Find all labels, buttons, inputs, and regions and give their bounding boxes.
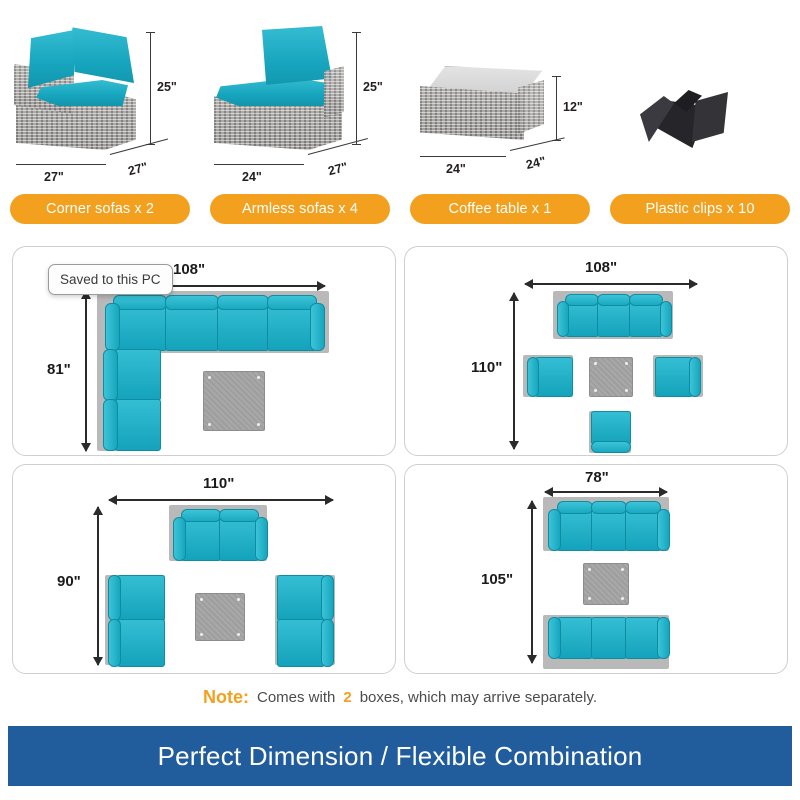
layout-1-width-label: 108" [173, 261, 205, 278]
armless-sofa-width-left-label: 24" [242, 170, 262, 184]
product-pill-plastic-clips[interactable]: Plastic clips x 10 [610, 194, 790, 224]
coffee-table-width-right-label: 24" [525, 154, 547, 172]
plastic-clips-illustration [600, 4, 800, 194]
armless-sofa-illustration: 25" 24" 27" [200, 4, 400, 194]
corner-sofa-width-left-label: 27" [44, 170, 64, 184]
layout-1-depth-label: 81" [47, 361, 71, 378]
layout-4-depth-label: 105" [481, 571, 513, 588]
layout-panel-two-facing-sofas[interactable]: 78" 105" [404, 464, 788, 674]
layout-panel-sofa-two-chairs[interactable]: 108" 110" [404, 246, 788, 456]
product-coffee-table: 12" 24" 24" Coffee table x 1 [400, 0, 600, 238]
layout-2-depth-label: 110" [471, 359, 502, 376]
corner-sofa-width-right-label: 27" [127, 160, 150, 179]
product-strip: 25" 27" 27" Corner sofas x 2 25" 24" 27"… [0, 0, 800, 238]
footer-banner-text: Perfect Dimension / Flexible Combination [158, 741, 643, 772]
product-pill-armless-sofa[interactable]: Armless sofas x 4 [210, 194, 390, 224]
armless-sofa-width-right-label: 27" [327, 160, 350, 179]
toast-text: Saved to this PC [60, 272, 161, 287]
product-armless-sofa: 25" 24" 27" Armless sofas x 4 [200, 0, 400, 238]
footer-banner: Perfect Dimension / Flexible Combination [8, 726, 792, 786]
note-after: boxes, which may arrive separately. [360, 689, 597, 706]
product-pill-coffee-table[interactable]: Coffee table x 1 [410, 194, 590, 224]
layout-2-width-label: 108" [585, 259, 617, 276]
layout-3-width-label: 110" [203, 475, 234, 492]
product-corner-sofa: 25" 27" 27" Corner sofas x 2 [0, 0, 200, 238]
note-row: Note: Comes with 2 boxes, which may arri… [0, 678, 800, 716]
coffee-table-width-left-label: 24" [446, 162, 466, 176]
armless-sofa-height-label: 25" [363, 80, 383, 94]
coffee-table-height-label: 12" [563, 100, 583, 114]
corner-sofa-illustration: 25" 27" 27" [0, 4, 200, 194]
layout-3-depth-label: 90" [57, 573, 81, 590]
corner-sofa-height-label: 25" [157, 80, 177, 94]
note-keyword: Note: [203, 687, 249, 708]
product-plastic-clips: Plastic clips x 10 [600, 0, 800, 238]
layout-panel-loveseat-two-sides[interactable]: 110" 90" [12, 464, 396, 674]
layout-4-width-label: 78" [585, 469, 609, 486]
product-pill-corner-sofa[interactable]: Corner sofas x 2 [10, 194, 190, 224]
note-before: Comes with [257, 689, 335, 706]
layout-panels: 108" 81" 108" 110" [0, 246, 800, 674]
saved-to-pc-toast[interactable]: Saved to this PC [48, 264, 173, 295]
coffee-table-illustration: 12" 24" 24" [400, 4, 600, 194]
note-box-count: 2 [343, 689, 351, 706]
